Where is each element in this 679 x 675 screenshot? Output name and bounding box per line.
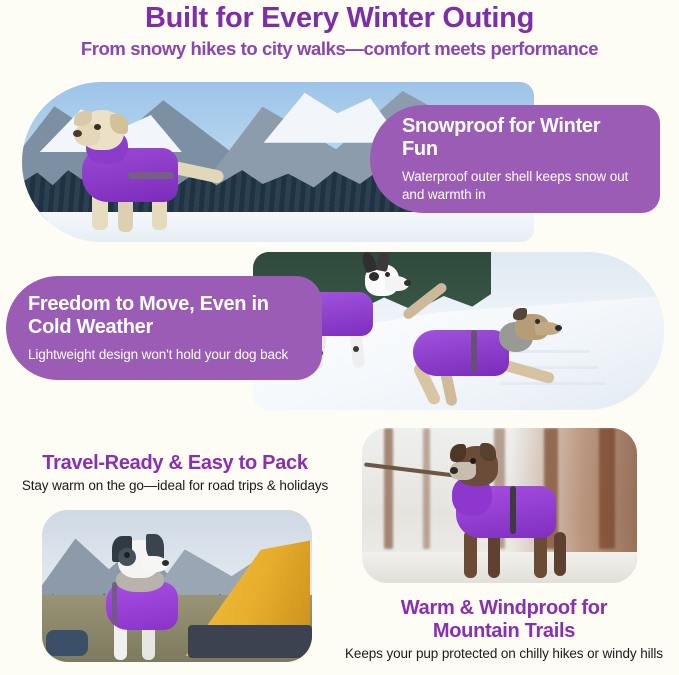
dog-nose xyxy=(404,280,411,286)
coat-strap xyxy=(510,486,516,534)
dog-spot xyxy=(369,272,379,281)
caption-card-freedom-to-move: Freedom to Move, Even in Cold Weather Li… xyxy=(6,276,322,380)
dog-ear xyxy=(480,443,496,461)
panel-image-travel-ready xyxy=(42,510,312,662)
page-subtitle: From snowy hikes to city walks—comfort m… xyxy=(0,38,679,60)
dog-nose xyxy=(555,325,562,331)
caption-card-snowproof: Snowproof for Winter Fun Waterproof oute… xyxy=(370,105,660,213)
dog-eye xyxy=(94,124,101,130)
dog-coat xyxy=(413,330,509,376)
coat-strap xyxy=(471,330,477,372)
dog-labrador xyxy=(56,110,216,238)
caption-title-warm-windproof-line2: Mountain Trails xyxy=(329,620,679,643)
dog-nose xyxy=(162,560,169,566)
dog-nose xyxy=(450,467,458,474)
tree-trunk xyxy=(384,428,393,549)
coat-strap xyxy=(112,582,117,624)
dog-nose xyxy=(73,130,82,137)
dog-spot xyxy=(353,346,359,352)
dog-eye xyxy=(470,458,476,464)
dog-leg xyxy=(488,532,500,578)
tent-footprint xyxy=(188,625,312,658)
panel-image-warm-windproof xyxy=(362,428,637,583)
caption-description-warm-windproof: Keeps your pup protected on chilly hikes… xyxy=(329,646,679,663)
dog-eye xyxy=(124,552,130,558)
caption-description: Lightweight design won't hold your dog b… xyxy=(28,346,302,363)
caption-title: Freedom to Move, Even in Cold Weather xyxy=(28,293,302,339)
dog-ear xyxy=(450,444,466,462)
dog-eye xyxy=(535,319,540,324)
dog-leg xyxy=(554,532,566,576)
product-feature-infographic: Built for Every Winter Outing From snowy… xyxy=(0,0,679,675)
page-title: Built for Every Winter Outing xyxy=(0,2,679,35)
caption-title-travel-ready: Travel-Ready & Easy to Pack xyxy=(0,452,350,475)
caption-description: Waterproof outer shell keeps snow out an… xyxy=(402,168,638,203)
dog-ear xyxy=(513,308,527,320)
dog-ear xyxy=(110,114,128,134)
coat-reflective-strip xyxy=(128,172,174,179)
caption-title-warm-windproof-line1: Warm & Windproof for xyxy=(329,597,679,620)
dog-eye xyxy=(385,272,390,277)
dog-border-collie xyxy=(90,532,194,660)
caption-title: Snowproof for Winter Fun xyxy=(402,115,638,161)
caption-description-travel-ready: Stay warm on the go—ideal for road trips… xyxy=(0,478,350,495)
dog-brindle xyxy=(434,446,584,578)
backpack xyxy=(46,630,88,656)
dog-whippet xyxy=(403,310,571,406)
tree-trunk xyxy=(423,428,430,549)
